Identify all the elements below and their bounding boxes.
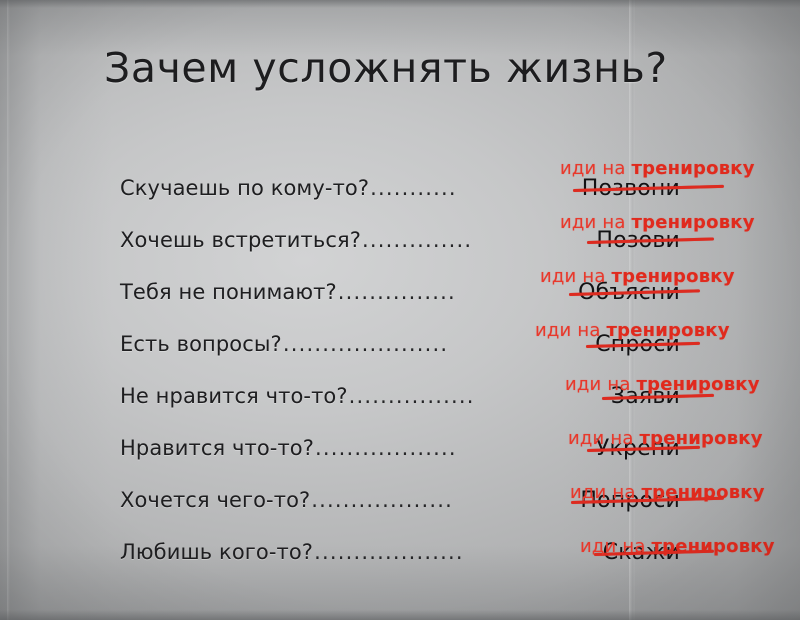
list-item: Любишь кого-то?...................Скажии… bbox=[0, 532, 800, 584]
annotation-keyword: тренировку bbox=[631, 158, 754, 179]
annotation-prefix: иди на bbox=[568, 428, 639, 449]
annotation-keyword: тренировку bbox=[636, 374, 759, 395]
annotation-prefix: иди на bbox=[560, 212, 631, 233]
annotation-prefix: иди на bbox=[570, 482, 641, 503]
dot-leader: ........... bbox=[370, 176, 582, 200]
question-answer-list: Скучаешь по кому-то?...........Позвониид… bbox=[0, 168, 800, 584]
list-item: Есть вопросы?.....................Спроси… bbox=[0, 324, 800, 376]
page-title: Зачем усложнять жизнь? bbox=[104, 44, 668, 92]
annotation-keyword: тренировку bbox=[639, 428, 762, 449]
annotation-prefix: иди на bbox=[560, 158, 631, 179]
question-text: Есть вопросы? bbox=[120, 332, 282, 356]
red-annotation: иди на тренировку bbox=[540, 266, 735, 287]
annotation-prefix: иди на bbox=[580, 536, 651, 557]
bottom-edge-shadow bbox=[0, 610, 800, 620]
annotation-keyword: тренировку bbox=[631, 212, 754, 233]
question-text: Скучаешь по кому-то? bbox=[120, 176, 369, 200]
annotation-keyword: тренировку bbox=[651, 536, 774, 557]
question-text: Хочешь встретиться? bbox=[120, 228, 361, 252]
question-answer-line: Скучаешь по кому-то?...........Позвони bbox=[120, 176, 680, 201]
top-edge-shadow bbox=[0, 0, 800, 8]
red-annotation: иди на тренировку bbox=[535, 320, 730, 341]
dot-leader: .................. bbox=[315, 436, 596, 460]
red-annotation: иди на тренировку bbox=[568, 428, 763, 449]
poster-image: Зачем усложнять жизнь? Скучаешь по кому-… bbox=[0, 0, 800, 620]
annotation-prefix: иди на bbox=[565, 374, 636, 395]
dot-leader: .................. bbox=[311, 488, 580, 512]
annotation-keyword: тренировку bbox=[611, 266, 734, 287]
list-item: Нравится что-то?..................Укрепи… bbox=[0, 428, 800, 480]
dot-leader: ................... bbox=[314, 540, 603, 564]
list-item: Не нравится что-то?................Заяви… bbox=[0, 376, 800, 428]
annotation-keyword: тренировку bbox=[606, 320, 729, 341]
list-item: Хочется чего-то?..................Попрос… bbox=[0, 480, 800, 532]
annotation-keyword: тренировку bbox=[641, 482, 764, 503]
red-annotation: иди на тренировку bbox=[565, 374, 760, 395]
question-text: Не нравится что-то? bbox=[120, 384, 348, 408]
question-text: Хочется чего-то? bbox=[120, 488, 310, 512]
red-annotation: иди на тренировку bbox=[560, 212, 755, 233]
list-item: Хочешь встретиться?..............Позовии… bbox=[0, 220, 800, 272]
annotation-prefix: иди на bbox=[540, 266, 611, 287]
question-text: Нравится что-то? bbox=[120, 436, 314, 460]
red-annotation: иди на тренировку bbox=[560, 158, 755, 179]
answer-group: Позвони bbox=[582, 176, 680, 201]
question-text: Тебя не понимают? bbox=[120, 280, 337, 304]
list-item: Тебя не понимают?...............Объяснии… bbox=[0, 272, 800, 324]
annotation-prefix: иди на bbox=[535, 320, 606, 341]
red-annotation: иди на тренировку bbox=[580, 536, 775, 557]
question-text: Любишь кого-то? bbox=[120, 540, 313, 564]
red-annotation: иди на тренировку bbox=[570, 482, 765, 503]
